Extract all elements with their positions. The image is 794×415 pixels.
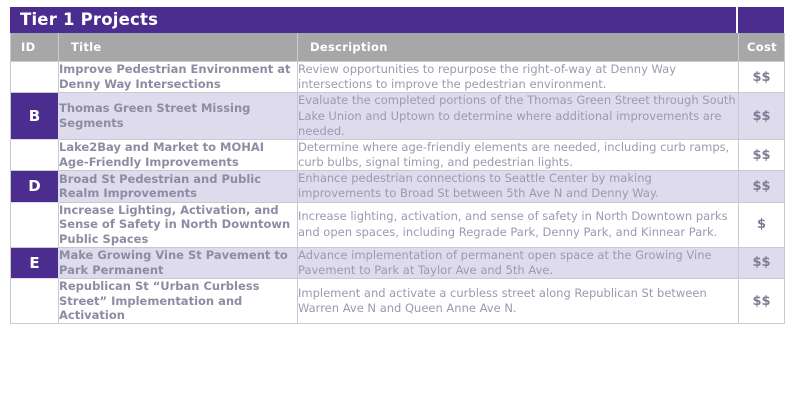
row-cost: $$	[739, 171, 785, 202]
table-row: B Thomas Green Street Missing Segments E…	[11, 93, 785, 140]
row-cost: $$	[739, 62, 785, 93]
row-description: Review opportunities to repurpose the ri…	[298, 62, 739, 93]
projects-table: ID Title Description Cost A Improve Pede…	[10, 33, 785, 324]
table-row: A Improve Pedestrian Environment at Denn…	[11, 62, 785, 93]
row-id-badge: C	[11, 139, 59, 170]
row-cost: $$	[739, 279, 785, 324]
table-header-row: ID Title Description Cost	[11, 33, 785, 62]
table-row: C Lake2Bay and Market to MOHAI Age-Frien…	[11, 139, 785, 170]
row-title: Make Growing Vine St Pavement to Park Pe…	[59, 247, 298, 278]
column-header-id: ID	[11, 33, 59, 62]
row-cost: $$	[739, 247, 785, 278]
row-cost: $$	[739, 93, 785, 140]
column-header-description: Description	[298, 33, 739, 62]
row-title: Thomas Green Street Missing Segments	[59, 93, 298, 140]
table-title-bar: Tier 1 Projects	[10, 7, 736, 33]
row-id-badge: E	[11, 247, 59, 278]
row-id-badge: A	[11, 62, 59, 93]
row-description: Evaluate the completed portions of the T…	[298, 93, 739, 140]
table-body: A Improve Pedestrian Environment at Denn…	[11, 62, 785, 324]
tier-1-projects-table-figure: Tier 1 Projects ID Title Description Cos…	[0, 0, 794, 415]
row-description: Enhance pedestrian connections to Seattl…	[298, 171, 739, 202]
row-description: Increase lighting, activation, and sense…	[298, 202, 739, 247]
row-title: Broad St Pedestrian and Public Realm Imp…	[59, 171, 298, 202]
column-header-title: Title	[59, 33, 298, 62]
row-description: Implement and activate a curbless street…	[298, 279, 739, 324]
table-header: ID Title Description Cost	[11, 33, 785, 62]
table-title-bar-cost-segment	[738, 7, 784, 33]
page-title: Tier 1 Projects	[10, 12, 158, 29]
row-title: Lake2Bay and Market to MOHAI Age-Friendl…	[59, 139, 298, 170]
column-header-cost: Cost	[739, 33, 785, 62]
table-row: D Broad St Pedestrian and Public Realm I…	[11, 171, 785, 202]
row-description: Determine where age-friendly elements ar…	[298, 139, 739, 170]
table-row: G Increase Lighting, Activation, and Sen…	[11, 202, 785, 247]
row-id-badge: D	[11, 171, 59, 202]
row-id-badge: F	[11, 279, 59, 324]
row-description: Advance implementation of permanent open…	[298, 247, 739, 278]
row-cost: $	[739, 202, 785, 247]
row-id-badge: G	[11, 202, 59, 247]
row-title: Increase Lighting, Activation, and Sense…	[59, 202, 298, 247]
row-title: Improve Pedestrian Environment at Denny …	[59, 62, 298, 93]
row-cost: $$	[739, 139, 785, 170]
row-title: Republican St “Urban Curbless Street” Im…	[59, 279, 298, 324]
row-id-badge: B	[11, 93, 59, 140]
table-row: F Republican St “Urban Curbless Street” …	[11, 279, 785, 324]
table-row: E Make Growing Vine St Pavement to Park …	[11, 247, 785, 278]
